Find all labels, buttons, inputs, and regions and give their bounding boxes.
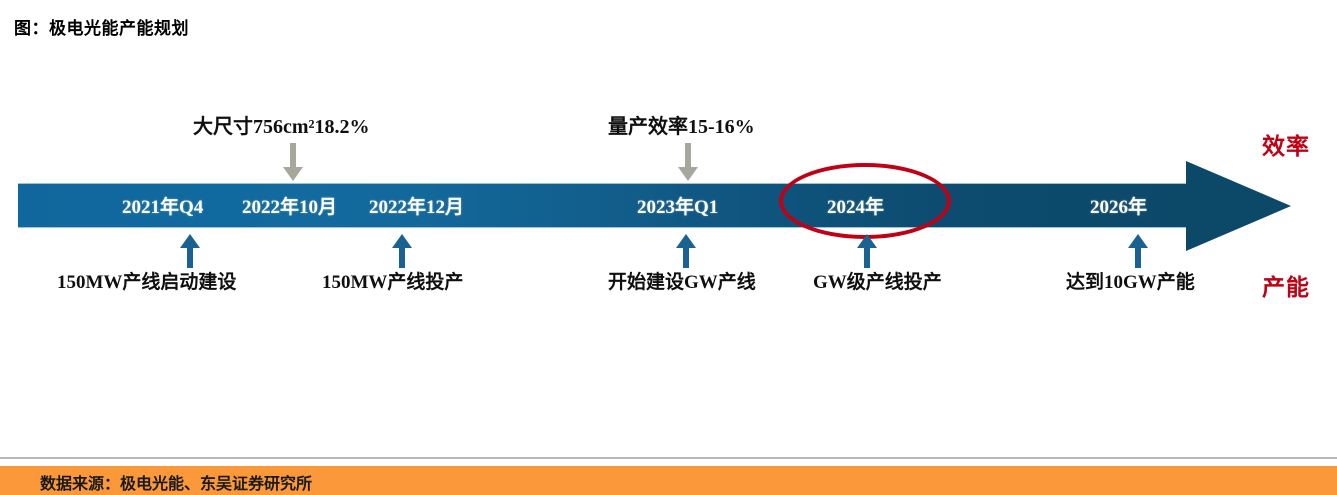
source-note: 数据来源：极电光能、东吴证券研究所 xyxy=(40,470,312,494)
capacity-event-2023q1: 开始建设GW产线 xyxy=(608,267,756,294)
capacity-event-2021q4: 150MW产线启动建设 xyxy=(57,267,236,294)
highlight-ellipse-2024 xyxy=(779,163,951,239)
milestone-date-2026: 2026年 xyxy=(1090,192,1147,219)
footer-divider xyxy=(0,457,1337,459)
up-arrow-icon xyxy=(390,234,414,268)
capacity-event-2026: 达到10GW产能 xyxy=(1066,267,1195,294)
down-arrow-icon xyxy=(675,143,701,181)
up-arrow-icon xyxy=(1126,234,1150,268)
up-arrow-icon xyxy=(178,234,202,268)
milestone-date-2022-12: 2022年12月 xyxy=(369,192,464,219)
up-arrow-icon xyxy=(674,234,698,268)
page-title: 图：极电光能产能规划 xyxy=(14,14,189,39)
up-arrow-icon xyxy=(855,234,879,268)
capacity-event-2022-12: 150MW产线投产 xyxy=(322,267,463,294)
efficiency-note-1: 大尺寸756cm²18.2% xyxy=(193,110,370,139)
axis-caption-efficiency: 效率 xyxy=(1262,127,1310,161)
arrow-head-icon xyxy=(1186,161,1291,251)
chart-canvas: 图：极电光能产能规划 大尺寸756cm²18.2% 量产效率15-16% 202… xyxy=(0,0,1337,495)
axis-caption-capacity: 产能 xyxy=(1262,268,1310,302)
milestone-date-2021q4: 2021年Q4 xyxy=(122,192,203,219)
down-arrow-icon xyxy=(280,143,306,181)
milestone-date-2022-10: 2022年10月 xyxy=(242,192,337,219)
capacity-event-2024: GW级产线投产 xyxy=(813,267,942,294)
milestone-date-2023q1: 2023年Q1 xyxy=(637,192,718,219)
efficiency-note-2: 量产效率15-16% xyxy=(608,110,755,139)
